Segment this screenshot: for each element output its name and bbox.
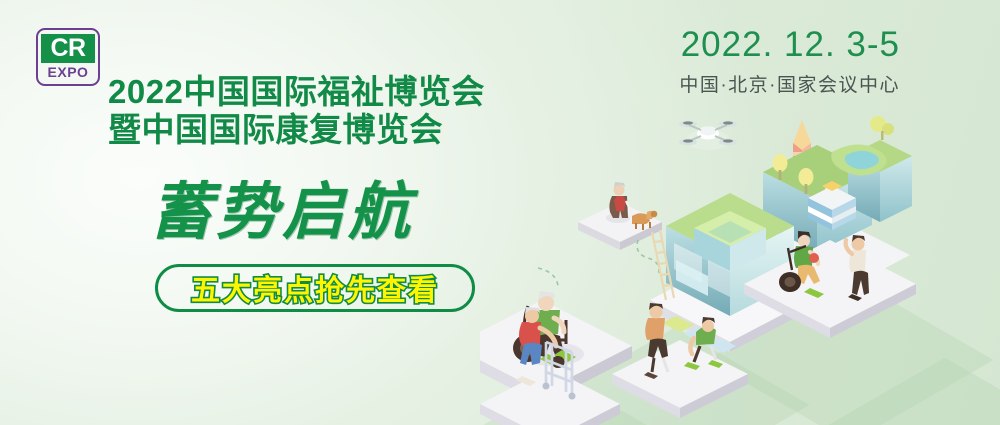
page-title: 2022中国国际福祉博览会 暨中国国际康复博览会 <box>108 73 485 149</box>
guide-dog-scene <box>578 182 662 250</box>
bush <box>870 116 894 140</box>
cr-expo-logo: CR EXPO <box>36 28 100 86</box>
highlights-cta-label: 五大亮点抢先查看 <box>191 267 439 309</box>
title-line-2: 暨中国国际康复博览会 <box>108 111 485 149</box>
event-venue: 中国·北京·国家会议中心 <box>679 70 900 97</box>
slogan-text: 蓄势启航 <box>150 180 414 246</box>
highlights-cta-button[interactable]: 五大亮点抢先查看 <box>155 264 475 312</box>
drone-icon <box>679 121 737 150</box>
logo-wordmark: EXPO <box>48 63 89 82</box>
exhibition-banner: CR EXPO 2022中国国际福祉博览会 暨中国国际康复博览会 蓄势启航 五大… <box>0 0 1000 425</box>
logo-mark: CR <box>41 34 95 63</box>
title-line-1: 2022中国国际福祉博览会 <box>108 73 485 111</box>
event-date: 2022. 12. 3-5 <box>681 25 900 65</box>
